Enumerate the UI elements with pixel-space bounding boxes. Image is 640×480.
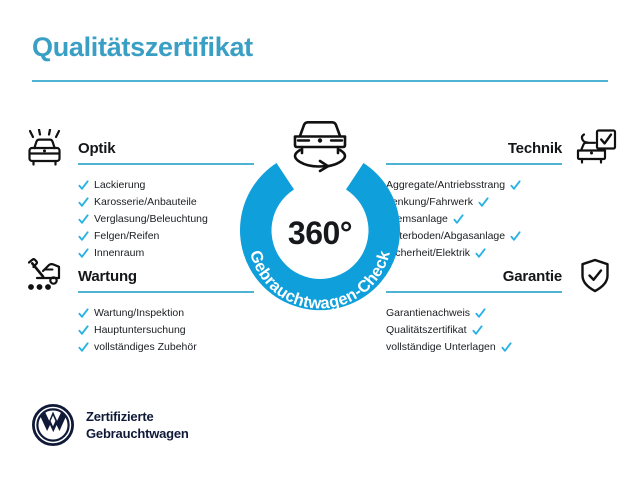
list-item: Bremsanlage [386, 211, 562, 228]
check-icon [78, 342, 89, 353]
list-item: Qualitätszertifikat [386, 322, 562, 339]
section-wartung-title-wrap: Wartung [68, 260, 254, 293]
badge-center-text: 360° [228, 216, 412, 250]
check-icon [475, 308, 486, 319]
page-title: Qualitätszertifikat [32, 30, 608, 64]
check-icon [78, 308, 89, 319]
page-header: Qualitätszertifikat [32, 30, 608, 64]
check-icon [78, 180, 89, 191]
section-garantie: Garantie Garantienachweis Qualitätszerti… [386, 256, 618, 356]
section-optik-header: Optik [22, 128, 254, 168]
shield-check-icon [572, 256, 618, 296]
check-icon [78, 197, 89, 208]
list-item-label: vollständige Unterlagen [386, 339, 496, 356]
list-item-label: Felgen/Reifen [94, 228, 159, 245]
list-item: Garantienachweis [386, 305, 562, 322]
list-item: Lenkung/Fahrwerk [386, 194, 562, 211]
section-optik: Optik Lackierung Karosserie/Anbauteile [22, 128, 254, 262]
car-wrench-icon [22, 256, 68, 296]
check-icon [78, 325, 89, 336]
list-item-label: Verglasung/Beleuchtung [94, 211, 208, 228]
section-technik-header: Technik [386, 128, 618, 168]
list-item-label: Wartung/Inspektion [94, 305, 184, 322]
section-optik-list: Lackierung Karosserie/Anbauteile Verglas… [22, 177, 254, 262]
list-item-label: Qualitätszertifikat [386, 322, 467, 339]
check-icon [472, 325, 483, 336]
footer-line-2: Gebrauchtwagen [86, 425, 189, 442]
footer-text: Zertifizierte Gebrauchtwagen [86, 408, 189, 442]
section-wartung-header: Wartung [22, 256, 254, 296]
check-icon [510, 231, 521, 242]
list-item: vollständige Unterlagen [386, 339, 562, 356]
section-technik-title-wrap: Technik [386, 132, 572, 165]
check-icon [510, 180, 521, 191]
footer-brand: Zertifizierte Gebrauchtwagen [32, 404, 189, 446]
volkswagen-logo [32, 404, 74, 446]
footer-line-1: Zertifizierte [86, 408, 189, 425]
section-garantie-title-wrap: Garantie [386, 260, 572, 293]
car-rotate-360-icon [278, 112, 362, 174]
list-item-label: Karosserie/Anbauteile [94, 194, 197, 211]
section-garantie-list: Garantienachweis Qualitätszertifikat vol… [386, 305, 618, 356]
list-item: Unterboden/Abgasanlage [386, 228, 562, 245]
badge-360-gebrauchtwagen-check: Gebrauchtwagen-Check 360° [228, 112, 412, 324]
check-icon [78, 231, 89, 242]
section-garantie-header: Garantie [386, 256, 618, 296]
check-icon [78, 214, 89, 225]
check-icon [453, 214, 464, 225]
title-divider [32, 80, 608, 82]
section-technik-title: Technik [386, 140, 562, 158]
car-front-shine-icon [22, 128, 68, 168]
section-technik-list: Aggregate/Antriebsstrang Lenkung/Fahrwer… [386, 177, 618, 262]
section-technik-divider [386, 163, 562, 165]
section-garantie-divider [386, 291, 562, 293]
section-wartung: Wartung Wartung/Inspektion Hauptuntersuc… [22, 256, 254, 356]
list-item: Aggregate/Antriebsstrang [386, 177, 562, 194]
list-item-label: Lackierung [94, 177, 145, 194]
list-item-label: vollständiges Zubehör [94, 339, 197, 356]
list-item: vollständiges Zubehör [78, 339, 254, 356]
check-icon [478, 197, 489, 208]
list-item: Hauptuntersuchung [78, 322, 254, 339]
check-icon [501, 342, 512, 353]
list-item-label: Hauptuntersuchung [94, 322, 186, 339]
section-optik-title-wrap: Optik [68, 132, 254, 165]
section-wartung-list: Wartung/Inspektion Hauptuntersuchung vol… [22, 305, 254, 356]
quality-certificate-page: Qualitätszertifikat Optik [0, 0, 640, 480]
section-garantie-title: Garantie [386, 268, 562, 286]
car-checkbox-icon [572, 128, 618, 168]
section-technik: Technik Aggregate/Antriebsstrang Lenkung… [386, 128, 618, 262]
